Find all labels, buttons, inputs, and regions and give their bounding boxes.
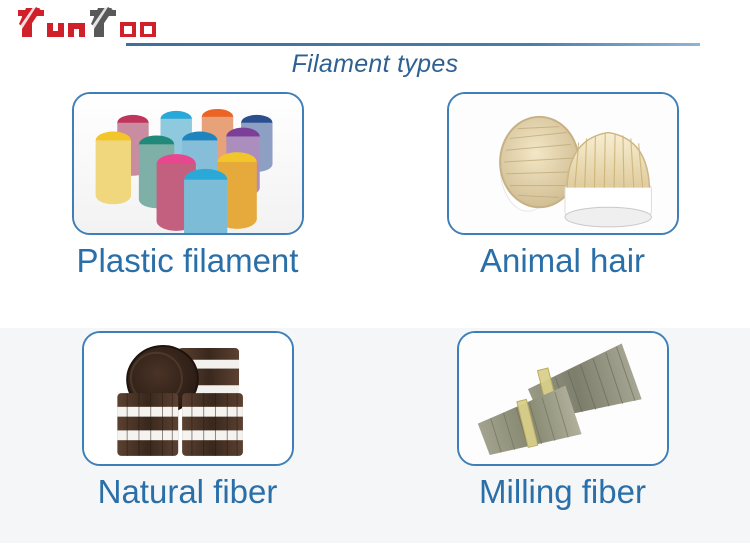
milling-fiber-image bbox=[459, 333, 667, 464]
grid-item-plastic-filament[interactable]: Plastic filament bbox=[0, 92, 375, 307]
caption-plastic-filament: Plastic filament bbox=[0, 242, 375, 280]
grid-item-natural-fiber[interactable]: Natural fiber bbox=[0, 331, 375, 546]
thumbnail-milling-fiber[interactable] bbox=[457, 331, 669, 466]
animal-hair-image bbox=[449, 94, 677, 233]
natural-fiber-image bbox=[84, 333, 292, 464]
grid-item-animal-hair[interactable]: Animal hair bbox=[375, 92, 750, 307]
brand-logo[interactable] bbox=[14, 6, 164, 40]
brand-logo-icon bbox=[14, 6, 164, 40]
caption-milling-fiber: Milling fiber bbox=[375, 473, 750, 511]
thumbnail-natural-fiber[interactable] bbox=[82, 331, 294, 466]
header-divider-rule bbox=[126, 43, 700, 46]
plastic-filament-image bbox=[74, 94, 302, 233]
caption-animal-hair: Animal hair bbox=[375, 242, 750, 280]
page-title: Filament types bbox=[0, 50, 750, 79]
caption-natural-fiber: Natural fiber bbox=[0, 473, 375, 511]
thumbnail-plastic-filament[interactable] bbox=[72, 92, 304, 235]
thumbnail-animal-hair[interactable] bbox=[447, 92, 679, 235]
grid-item-milling-fiber[interactable]: Milling fiber bbox=[375, 331, 750, 546]
page-root: Filament types bbox=[0, 0, 750, 543]
page-header bbox=[0, 0, 750, 50]
